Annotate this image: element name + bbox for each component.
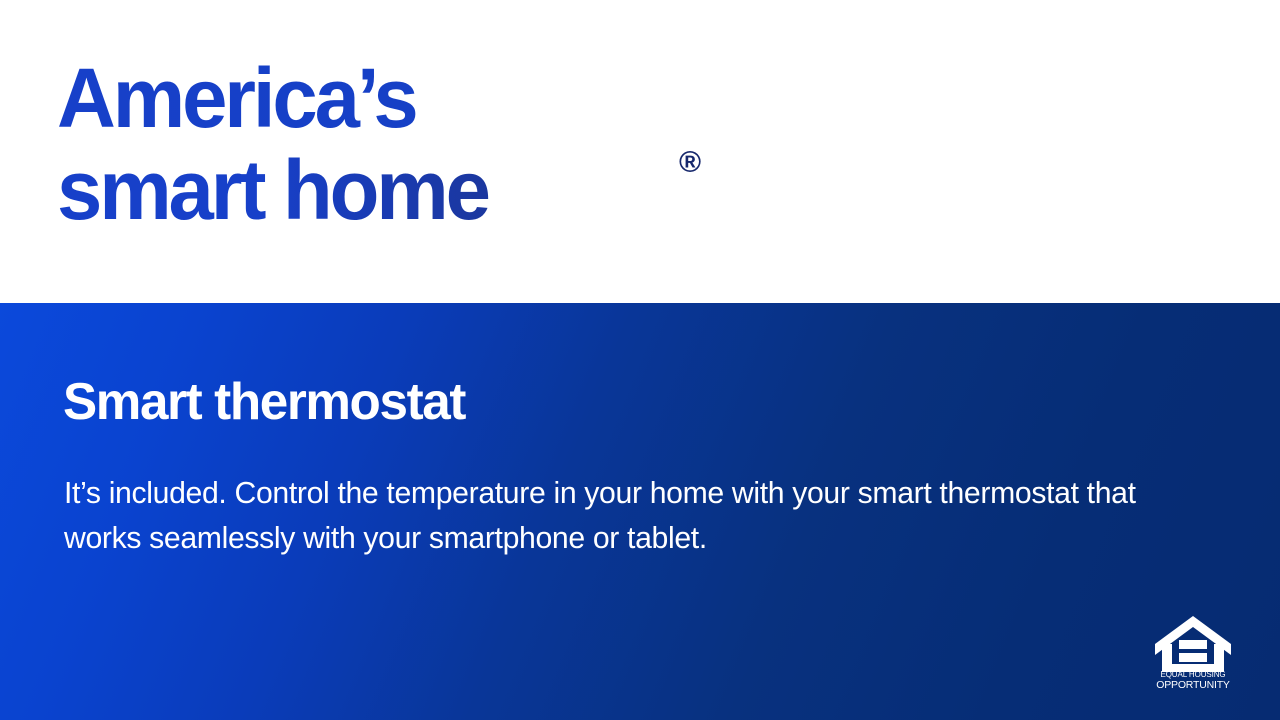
equal-housing-opportunity-logo: EQUAL HOUSING OPPORTUNITY — [1155, 614, 1231, 692]
slide-root: America’s smart home ® Smart thermostat … — [0, 0, 1280, 720]
equal-housing-opportunity-text: EQUAL HOUSING OPPORTUNITY — [1155, 670, 1231, 691]
brand-logo-line-2-wrap: smart home ® — [57, 144, 757, 236]
page-title: Smart thermostat — [63, 371, 465, 433]
equal-housing-line-2: OPPORTUNITY — [1155, 680, 1231, 692]
body-paragraph: It’s included. Control the temperature i… — [64, 471, 1203, 561]
brand-logo: America’s smart home ® — [57, 52, 757, 236]
logo-band: America’s smart home ® — [0, 0, 1280, 303]
registered-trademark-icon: ® — [679, 148, 701, 178]
brand-logo-line-1: America’s — [57, 52, 736, 144]
brand-logo-line-2: smart home — [57, 144, 736, 236]
house-icon — [1155, 614, 1231, 672]
